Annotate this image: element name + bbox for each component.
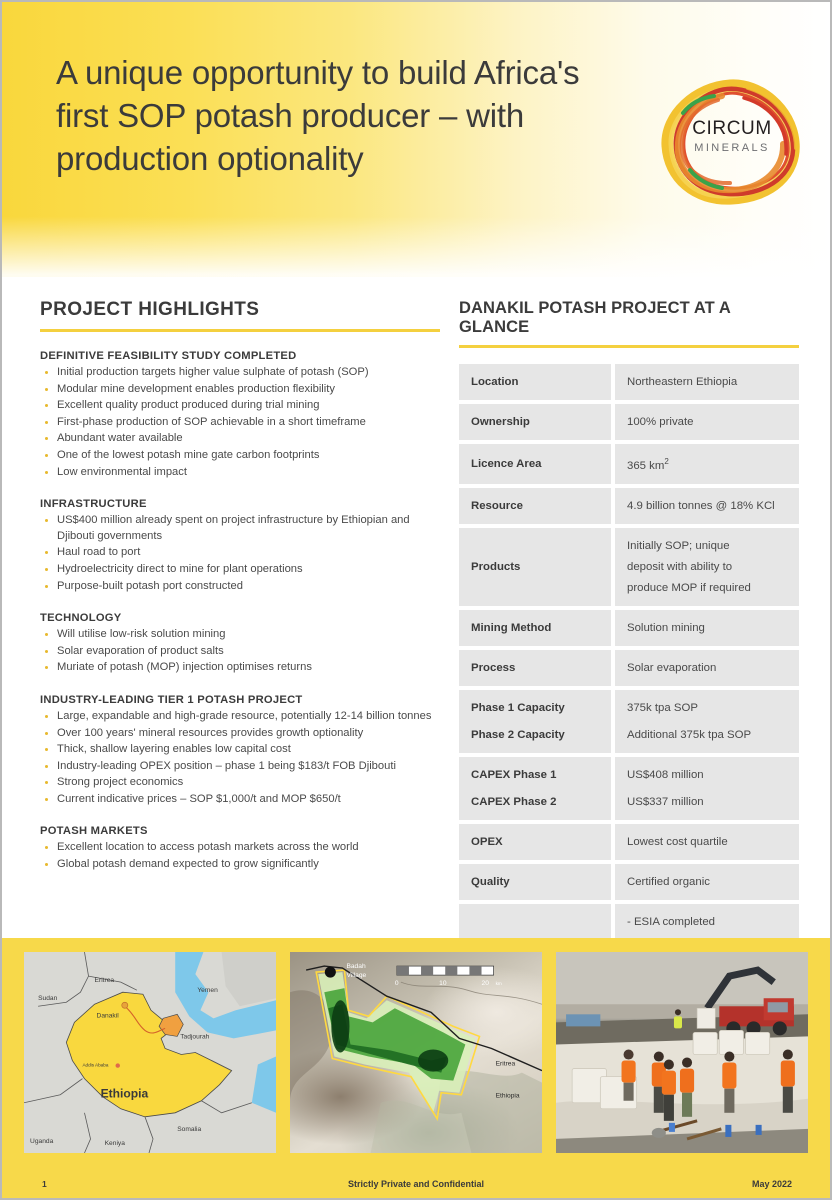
document-date: May 2022: [752, 1179, 792, 1189]
ethiopia-locator-map: Sudan Eritrea Yemen Danakil Tadjourah Ad…: [24, 952, 276, 1153]
highlight-group: POTASH MARKETS Excellent location to acc…: [40, 825, 440, 872]
map-label-tadjourah: Tadjourah: [180, 1033, 209, 1040]
row-value: Lowest cost quartile: [615, 824, 799, 860]
row-value-number: 365 km: [627, 460, 664, 472]
list-item: Thick, shallow layering enables low capi…: [40, 742, 440, 758]
map-label-danakil: Danakil: [97, 1012, 120, 1019]
map-label-badah: Badah: [346, 963, 366, 970]
section-divider: [40, 329, 440, 332]
row-label: Licence Area: [459, 444, 611, 484]
map-label-uganda: Uganda: [30, 1138, 54, 1145]
map-label-village: Village: [346, 972, 366, 979]
row-value: Northeastern Ethiopia: [615, 364, 799, 400]
group-heading: INDUSTRY-LEADING TIER 1 POTASH PROJECT: [40, 694, 440, 706]
bullet-list: Large, expandable and high-grade resourc…: [40, 709, 440, 808]
highlight-group: TECHNOLOGY Will utilise low-risk solutio…: [40, 612, 440, 676]
table-row: Location Northeastern Ethiopia: [459, 364, 799, 400]
highlight-group: DEFINITIVE FEASIBILITY STUDY COMPLETED I…: [40, 350, 440, 480]
row-label: Quality: [459, 864, 611, 900]
row-label-line: Phase 2 Capacity: [471, 726, 599, 744]
scale-tick-0: 0: [395, 980, 399, 987]
mining-site-graphic: [556, 952, 808, 1153]
row-value-line: US$408 million: [627, 766, 787, 784]
list-item: US$400 million already spent on project …: [40, 513, 440, 544]
list-item: Excellent location to access potash mark…: [40, 840, 440, 856]
row-value: Certified organic: [615, 864, 799, 900]
row-label-line: CAPEX Phase 2: [471, 793, 599, 811]
map-label-somalia: Somalia: [177, 1126, 201, 1133]
figure-band: Sudan Eritrea Yemen Danakil Tadjourah Ad…: [2, 938, 830, 1167]
licence-area-graphic: Badah Village 0 10 20 km Eritrea: [290, 952, 542, 1153]
ethiopia-map-graphic: Sudan Eritrea Yemen Danakil Tadjourah Ad…: [24, 952, 276, 1153]
row-label: Location: [459, 364, 611, 400]
row-label: Ownership: [459, 404, 611, 440]
row-value: Solar evaporation: [615, 650, 799, 686]
list-item: Solar evaporation of product salts: [40, 644, 440, 660]
presentation-page: A unique opportunity to build Africa's f…: [0, 0, 832, 1200]
map-label-ethiopia: Ethiopia: [496, 1093, 520, 1100]
row-label: Process: [459, 650, 611, 686]
row-label-line: Phase 1 Capacity: [471, 699, 599, 717]
scale-tick-10: 10: [439, 980, 447, 987]
map-label-yemen: Yemen: [197, 987, 218, 994]
project-highlights-title: PROJECT HIGHLIGHTS: [40, 299, 440, 321]
list-item: First-phase production of SOP achievable…: [40, 415, 440, 431]
page-body: PROJECT HIGHLIGHTS DEFINITIVE FEASIBILIT…: [2, 277, 830, 938]
map-label-keniya: Keniya: [105, 1140, 126, 1147]
table-row: Ownership 100% private: [459, 404, 799, 440]
scale-unit: km: [496, 981, 502, 986]
map-label-eritrea: Eritrea: [496, 1061, 516, 1068]
trial-mining-site-photo: [556, 952, 808, 1153]
row-label: Products: [459, 528, 611, 606]
circum-minerals-logo: CIRCUM MINERALS: [652, 70, 812, 215]
row-value: Initially SOP; unique deposit with abili…: [615, 528, 799, 606]
list-item: Modular mine development enables product…: [40, 382, 440, 398]
table-row: Process Solar evaporation: [459, 650, 799, 686]
list-item: Current indicative prices – SOP $1,000/t…: [40, 792, 440, 808]
highlight-group: INDUSTRY-LEADING TIER 1 POTASH PROJECT L…: [40, 694, 440, 808]
table-row: Resource 4.9 billion tonnes @ 18% KCl: [459, 488, 799, 524]
row-value-line: produce MOP if required: [627, 579, 787, 597]
group-heading: TECHNOLOGY: [40, 612, 440, 624]
table-row: CAPEX Phase 1 CAPEX Phase 2 US$408 milli…: [459, 757, 799, 820]
map-label-ethiopia: Ethiopia: [101, 1087, 149, 1101]
list-item: Hydroelectricity direct to mine for plan…: [40, 562, 440, 578]
list-item: Excellent quality product produced durin…: [40, 398, 440, 414]
page-footer: 1 Strictly Private and Confidential May …: [2, 1167, 830, 1200]
row-value: US$408 million US$337 million: [615, 757, 799, 820]
map-label-addis-ababa: Addis Ababa: [82, 1063, 108, 1068]
highlight-group: INFRASTRUCTURE US$400 million already sp…: [40, 498, 440, 594]
row-value-superscript: 2: [664, 457, 668, 466]
list-item: One of the lowest potash mine gate carbo…: [40, 448, 440, 464]
page-title: A unique opportunity to build Africa's f…: [56, 52, 616, 181]
group-heading: POTASH MARKETS: [40, 825, 440, 837]
list-item: Muriate of potash (MOP) injection optimi…: [40, 660, 440, 676]
page-header: A unique opportunity to build Africa's f…: [2, 2, 830, 277]
row-value-line: Initially SOP; unique: [627, 537, 787, 555]
row-value-line: 375k tpa SOP: [627, 699, 787, 717]
bullet-list: Will utilise low-risk solution mining So…: [40, 627, 440, 676]
list-item: Global potash demand expected to grow si…: [40, 857, 440, 873]
list-item: Initial production targets higher value …: [40, 365, 440, 381]
row-value-line: deposit with ability to: [627, 558, 787, 576]
list-item: Will utilise low-risk solution mining: [40, 627, 440, 643]
list-item: Haul road to port: [40, 545, 440, 561]
list-item: Large, expandable and high-grade resourc…: [40, 709, 440, 725]
row-label: Phase 1 Capacity Phase 2 Capacity: [459, 690, 611, 753]
row-value: 365 km2: [615, 444, 799, 484]
row-value-line: Additional 375k tpa SOP: [627, 726, 787, 744]
list-item: Abundant water available: [40, 431, 440, 447]
map-label-sudan: Sudan: [38, 995, 58, 1002]
project-glance-title: DANAKIL POTASH PROJECT AT A GLANCE: [459, 299, 799, 337]
bullet-list: Excellent location to access potash mark…: [40, 840, 440, 872]
project-highlights-column: PROJECT HIGHLIGHTS DEFINITIVE FEASIBILIT…: [40, 299, 440, 874]
map-label-eritrea: Eritrea: [95, 977, 115, 984]
row-label: Mining Method: [459, 610, 611, 646]
section-divider: [459, 345, 799, 348]
row-value: 4.9 billion tonnes @ 18% KCl: [615, 488, 799, 524]
danakil-licence-satellite-map: Badah Village 0 10 20 km Eritrea: [290, 952, 542, 1153]
bullet-list: US$400 million already spent on project …: [40, 513, 440, 594]
list-item: Industry-leading OPEX position – phase 1…: [40, 759, 440, 775]
group-heading: DEFINITIVE FEASIBILITY STUDY COMPLETED: [40, 350, 440, 362]
group-heading: INFRASTRUCTURE: [40, 498, 440, 510]
table-row: Products Initially SOP; unique deposit w…: [459, 528, 799, 606]
confidentiality-notice: Strictly Private and Confidential: [2, 1179, 830, 1189]
row-label-line: CAPEX Phase 1: [471, 766, 599, 784]
row-value: Solution mining: [615, 610, 799, 646]
figure-row: Sudan Eritrea Yemen Danakil Tadjourah Ad…: [24, 952, 808, 1153]
row-value: 375k tpa SOP Additional 375k tpa SOP: [615, 690, 799, 753]
bullet-list: Initial production targets higher value …: [40, 365, 440, 480]
table-row: Quality Certified organic: [459, 864, 799, 900]
row-value: 100% private: [615, 404, 799, 440]
list-item: Over 100 years' mineral resources provid…: [40, 726, 440, 742]
row-label: Resource: [459, 488, 611, 524]
table-row: Mining Method Solution mining: [459, 610, 799, 646]
table-row: Licence Area 365 km2: [459, 444, 799, 484]
scale-bar: 0 10 20 km: [395, 966, 502, 987]
table-row: Phase 1 Capacity Phase 2 Capacity 375k t…: [459, 690, 799, 753]
row-label: CAPEX Phase 1 CAPEX Phase 2: [459, 757, 611, 820]
row-value-line: US$337 million: [627, 793, 787, 811]
list-item: Purpose-built potash port constructed: [40, 579, 440, 595]
table-row: OPEX Lowest cost quartile: [459, 824, 799, 860]
list-item: Strong project economics: [40, 775, 440, 791]
row-label: OPEX: [459, 824, 611, 860]
logo-brushstrokes-icon: [652, 70, 812, 215]
list-item: Low environmental impact: [40, 465, 440, 481]
row-value-line: - ESIA completed: [627, 913, 787, 931]
scale-tick-20: 20: [482, 980, 490, 987]
